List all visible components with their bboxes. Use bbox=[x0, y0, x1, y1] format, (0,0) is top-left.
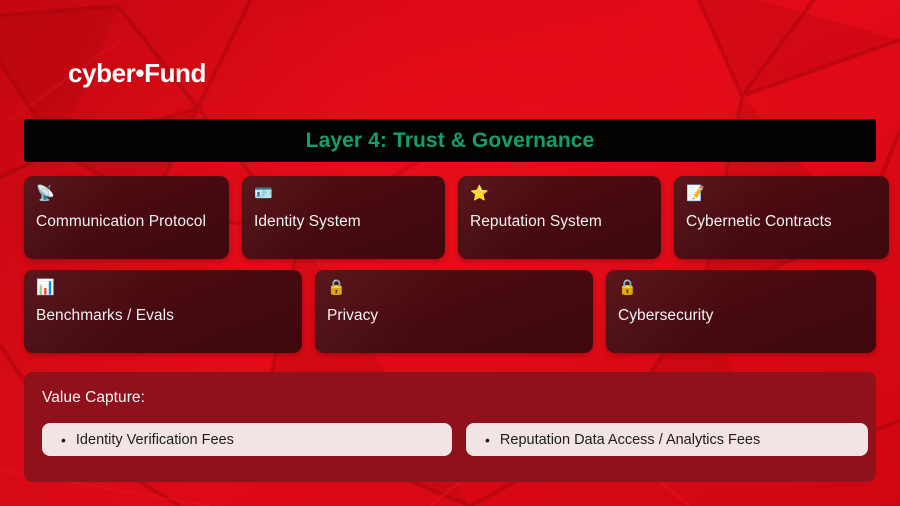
value-capture-item-reputation-data-access-analytics-fees[interactable]: • Reputation Data Access / Analytics Fee… bbox=[466, 423, 868, 456]
card-row-1: 📡 Communication Protocol 🪪 Identity Syst… bbox=[24, 176, 876, 259]
lock-icon: 🔒 bbox=[618, 279, 864, 297]
card-identity-system[interactable]: 🪪 Identity System bbox=[242, 176, 445, 259]
layer-title-bar: Layer 4: Trust & Governance bbox=[24, 119, 876, 162]
card-label: Reputation System bbox=[470, 212, 649, 232]
identification-card-icon: 🪪 bbox=[254, 185, 433, 203]
card-cybernetic-contracts[interactable]: 📝 Cybernetic Contracts bbox=[674, 176, 889, 259]
card-label: Benchmarks / Evals bbox=[36, 306, 290, 326]
card-label: Privacy bbox=[327, 306, 581, 326]
brand-logo: cyber•Fund bbox=[68, 58, 206, 89]
value-capture-panel: Value Capture: • Identity Verification F… bbox=[24, 372, 876, 482]
card-privacy[interactable]: 🔒 Privacy bbox=[315, 270, 593, 353]
card-row-2: 📊 Benchmarks / Evals 🔒 Privacy 🔒 Cyberse… bbox=[24, 270, 876, 353]
lock-icon: 🔒 bbox=[327, 279, 581, 297]
value-capture-item-list: • Identity Verification Fees • Reputatio… bbox=[42, 423, 858, 456]
card-communication-protocol[interactable]: 📡 Communication Protocol bbox=[24, 176, 229, 259]
layer-title: Layer 4: Trust & Governance bbox=[306, 129, 595, 153]
value-capture-item-label: Identity Verification Fees bbox=[76, 431, 234, 449]
card-benchmarks-evals[interactable]: 📊 Benchmarks / Evals bbox=[24, 270, 302, 353]
memo-icon: 📝 bbox=[686, 185, 877, 203]
slide-root: cyber•Fund Layer 4: Trust & Governance 📡… bbox=[0, 0, 900, 506]
satellite-antenna-icon: 📡 bbox=[36, 185, 217, 203]
card-cybersecurity[interactable]: 🔒 Cybersecurity bbox=[606, 270, 876, 353]
bullet-icon: • bbox=[61, 433, 66, 447]
bar-chart-icon: 📊 bbox=[36, 279, 290, 297]
card-label: Cybernetic Contracts bbox=[686, 212, 877, 232]
card-label: Identity System bbox=[254, 212, 433, 232]
card-label: Cybersecurity bbox=[618, 306, 864, 326]
star-icon: ⭐ bbox=[470, 185, 649, 203]
value-capture-item-label: Reputation Data Access / Analytics Fees bbox=[500, 431, 760, 449]
value-capture-item-identity-verification-fees[interactable]: • Identity Verification Fees bbox=[42, 423, 452, 456]
card-label: Communication Protocol bbox=[36, 212, 217, 232]
bullet-icon: • bbox=[485, 433, 490, 447]
value-capture-title: Value Capture: bbox=[42, 388, 858, 408]
card-reputation-system[interactable]: ⭐ Reputation System bbox=[458, 176, 661, 259]
